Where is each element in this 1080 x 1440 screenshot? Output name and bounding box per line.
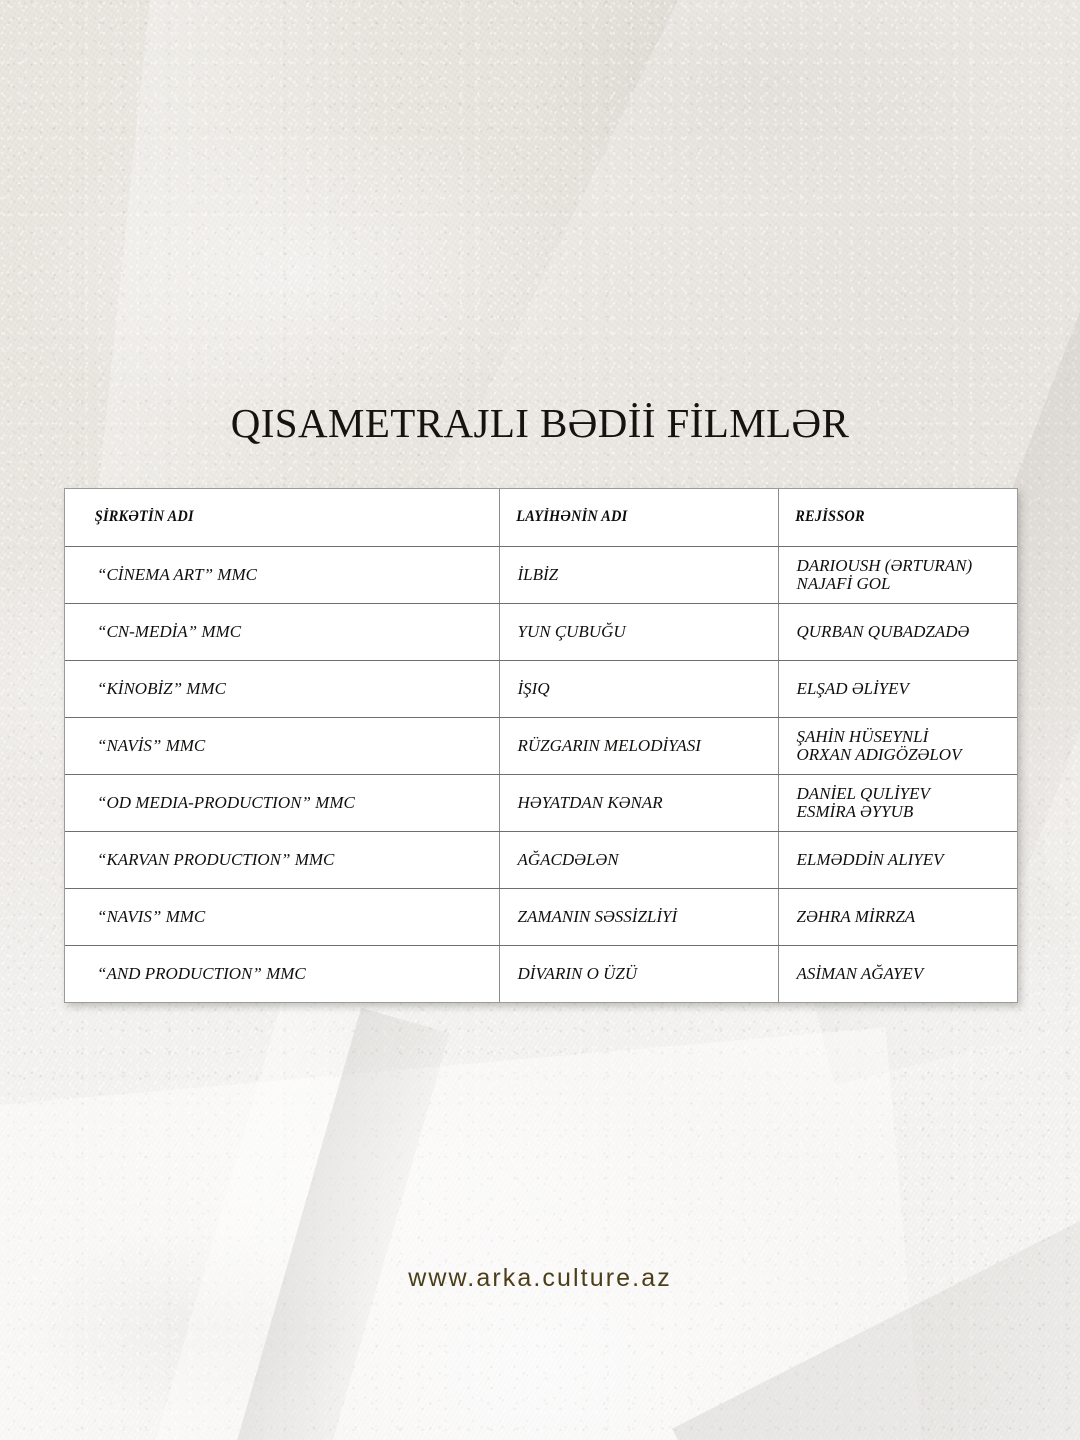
cell-director: ŞAHİN HÜSEYNLİ ORXAN ADIGÖZƏLOV bbox=[778, 717, 1017, 774]
cell-project: HƏYATDAN KƏNAR bbox=[499, 774, 778, 831]
cell-director: ELMƏDDİN ALIYEV bbox=[778, 831, 1017, 888]
cell-company: “KARVAN PRODUCTION” MMC bbox=[65, 831, 499, 888]
cell-project: RÜZGARIN MELODİYASI bbox=[499, 717, 778, 774]
table-row: “OD MEDIA-PRODUCTION” MMC HƏYATDAN KƏNAR… bbox=[65, 774, 1017, 831]
cell-company: “OD MEDIA-PRODUCTION” MMC bbox=[65, 774, 499, 831]
cell-project: AĞACDƏLƏN bbox=[499, 831, 778, 888]
cell-company: “CİNEMA ART” MMC bbox=[65, 546, 499, 603]
director-line: DARIOUSH (ƏRTURAN) bbox=[797, 557, 1004, 574]
table-row: “NAVIS” MMC ZAMANIN SƏSSİZLİYİ ZƏHRA MİR… bbox=[65, 888, 1017, 945]
director-line: QURBAN QUBADZADƏ bbox=[797, 623, 1004, 640]
cell-company: “KİNOBİZ” MMC bbox=[65, 660, 499, 717]
cell-project: İLBİZ bbox=[499, 546, 778, 603]
cell-director: ZƏHRA MİRRZA bbox=[778, 888, 1017, 945]
table-row: “CİNEMA ART” MMC İLBİZ DARIOUSH (ƏRTURAN… bbox=[65, 546, 1017, 603]
table-row: “KİNOBİZ” MMC İŞIQ ELŞAD ƏLİYEV bbox=[65, 660, 1017, 717]
column-header-company: ŞİRKƏTİN ADI bbox=[65, 489, 469, 546]
table-row: “NAVİS” MMC RÜZGARIN MELODİYASI ŞAHİN HÜ… bbox=[65, 717, 1017, 774]
cell-director: DARIOUSH (ƏRTURAN) NAJAFİ GOL bbox=[778, 546, 1017, 603]
cell-director: ELŞAD ƏLİYEV bbox=[778, 660, 1017, 717]
director-line: ELŞAD ƏLİYEV bbox=[797, 680, 1004, 697]
table-row: “KARVAN PRODUCTION” MMC AĞACDƏLƏN ELMƏDD… bbox=[65, 831, 1017, 888]
table-header: ŞİRKƏTİN ADI LAYİHƏNİN ADI REJİSSOR bbox=[65, 489, 1017, 546]
director-line: ESMİRA ƏYYUB bbox=[797, 803, 1004, 820]
cell-director: ASİMAN AĞAYEV bbox=[778, 945, 1017, 1002]
poster-page: QISAMETRAJLI BƏDİİ FİLMLƏR ŞİRKƏTİN ADI … bbox=[0, 0, 1080, 1440]
table-row: “CN-MEDİA” MMC YUN ÇUBUĞU QURBAN QUBADZA… bbox=[65, 603, 1017, 660]
cell-project: ZAMANIN SƏSSİZLİYİ bbox=[499, 888, 778, 945]
cell-company: “AND PRODUCTION” MMC bbox=[65, 945, 499, 1002]
page-title: QISAMETRAJLI BƏDİİ FİLMLƏR bbox=[0, 399, 1080, 447]
cell-director: QURBAN QUBADZADƏ bbox=[778, 603, 1017, 660]
director-line: NAJAFİ GOL bbox=[797, 575, 1004, 592]
director-line: ŞAHİN HÜSEYNLİ bbox=[797, 728, 1004, 745]
director-line: ELMƏDDİN ALIYEV bbox=[797, 851, 1004, 868]
director-line: DANİEL QULİYEV bbox=[797, 785, 1004, 802]
director-line: ZƏHRA MİRRZA bbox=[797, 908, 1004, 925]
film-table-container: ŞİRKƏTİN ADI LAYİHƏNİN ADI REJİSSOR “CİN… bbox=[64, 488, 1018, 1003]
film-table: ŞİRKƏTİN ADI LAYİHƏNİN ADI REJİSSOR “CİN… bbox=[65, 489, 1017, 1002]
cell-company: “CN-MEDİA” MMC bbox=[65, 603, 499, 660]
cell-company: “NAVİS” MMC bbox=[65, 717, 499, 774]
cell-director: DANİEL QULİYEV ESMİRA ƏYYUB bbox=[778, 774, 1017, 831]
table-header-row: ŞİRKƏTİN ADI LAYİHƏNİN ADI REJİSSOR bbox=[65, 489, 1017, 546]
column-header-project: LAYİHƏNİN ADI bbox=[499, 489, 758, 546]
cell-project: DİVARIN O ÜZÜ bbox=[499, 945, 778, 1002]
cell-company: “NAVIS” MMC bbox=[65, 888, 499, 945]
table-body: “CİNEMA ART” MMC İLBİZ DARIOUSH (ƏRTURAN… bbox=[65, 546, 1017, 1002]
column-header-director: REJİSSOR bbox=[778, 489, 1000, 546]
website-url: www.arka.culture.az bbox=[0, 1264, 1080, 1293]
director-line: ORXAN ADIGÖZƏLOV bbox=[797, 746, 1004, 763]
cell-project: YUN ÇUBUĞU bbox=[499, 603, 778, 660]
cell-project: İŞIQ bbox=[499, 660, 778, 717]
director-line: ASİMAN AĞAYEV bbox=[797, 965, 1004, 982]
table-row: “AND PRODUCTION” MMC DİVARIN O ÜZÜ ASİMA… bbox=[65, 945, 1017, 1002]
